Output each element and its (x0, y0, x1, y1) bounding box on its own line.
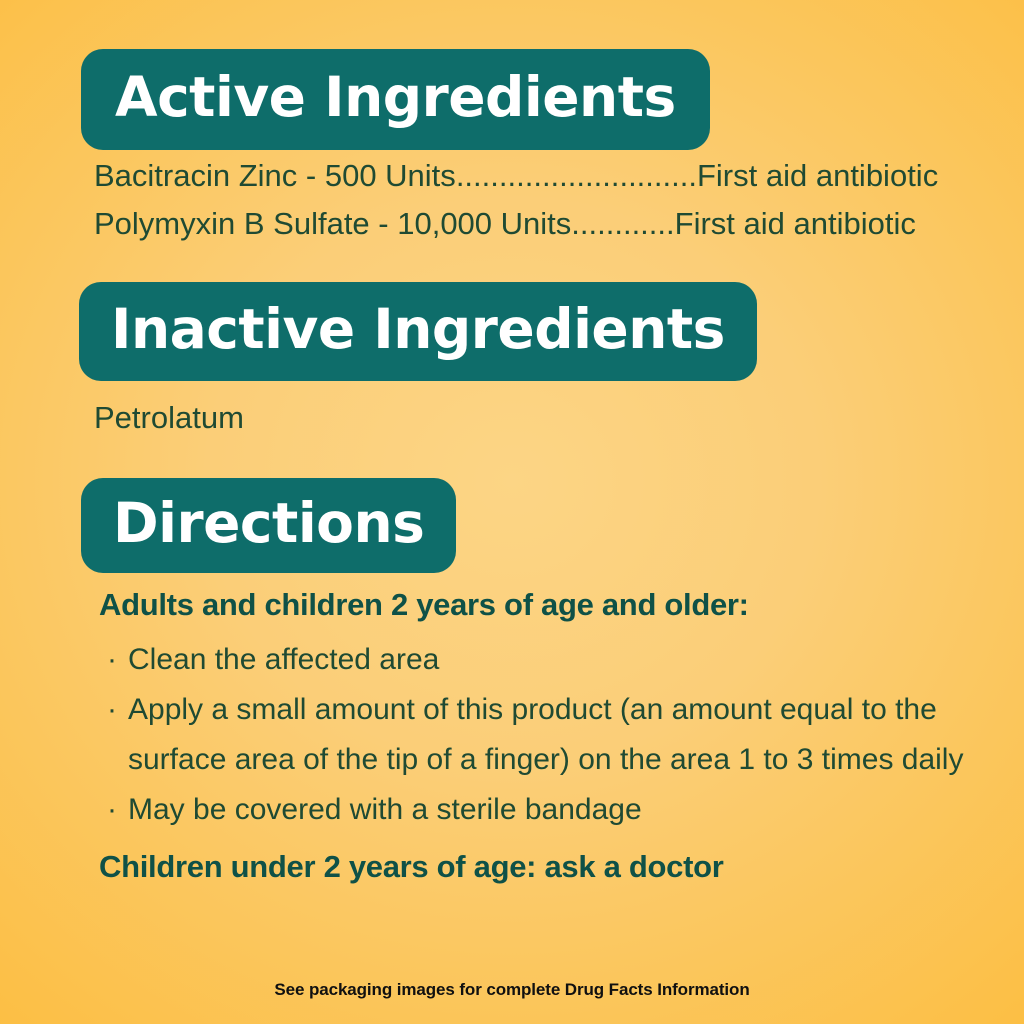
directions-bullet-item: · Clean the affected area (99, 635, 979, 685)
active-ingredient-row: Bacitracin Zinc - 500 Units.............… (94, 152, 1004, 200)
active-ingredient-row: Polymyxin B Sulfate - 10,000 Units......… (94, 200, 1004, 248)
directions-bullet-item: · May be covered with a sterile bandage (99, 785, 979, 835)
directions-children-subheading: Children under 2 years of age: ask a doc… (99, 845, 979, 889)
bullet-marker-icon: · (107, 785, 117, 835)
directions-heading: Directions (81, 478, 456, 573)
bullet-marker-icon: · (107, 635, 117, 685)
directions-bullet-text: Apply a small amount of this product (an… (128, 693, 963, 776)
active-ingredients-list: Bacitracin Zinc - 500 Units.............… (94, 152, 1004, 248)
active-ingredients-heading: Active Ingredients (81, 49, 710, 150)
directions-bullet-list: · Clean the affected area · Apply a smal… (99, 635, 979, 835)
ingredient-name: Bacitracin Zinc - 500 Units (94, 158, 456, 193)
directions-body: Adults and children 2 years of age and o… (99, 583, 979, 889)
directions-bullet-text: Clean the affected area (128, 643, 439, 676)
ingredient-purpose: First aid antibiotic (697, 158, 938, 193)
directions-bullet-item: · Apply a small amount of this product (… (99, 685, 979, 785)
directions-adults-subheading: Adults and children 2 years of age and o… (99, 583, 979, 627)
packaging-footnote: See packaging images for complete Drug F… (0, 980, 1024, 1000)
ingredient-name: Polymyxin B Sulfate - 10,000 Units (94, 206, 571, 241)
inactive-ingredients-heading: Inactive Ingredients (79, 282, 757, 381)
leader-dots: ............................ (456, 158, 697, 193)
inactive-ingredients-body: Petrolatum (94, 398, 244, 438)
drug-facts-panel: Active Ingredients Bacitracin Zinc - 500… (0, 0, 1024, 1024)
ingredient-purpose: First aid antibiotic (675, 206, 916, 241)
bullet-marker-icon: · (107, 685, 117, 735)
leader-dots: ............ (571, 206, 674, 241)
directions-bullet-text: May be covered with a sterile bandage (128, 793, 642, 826)
